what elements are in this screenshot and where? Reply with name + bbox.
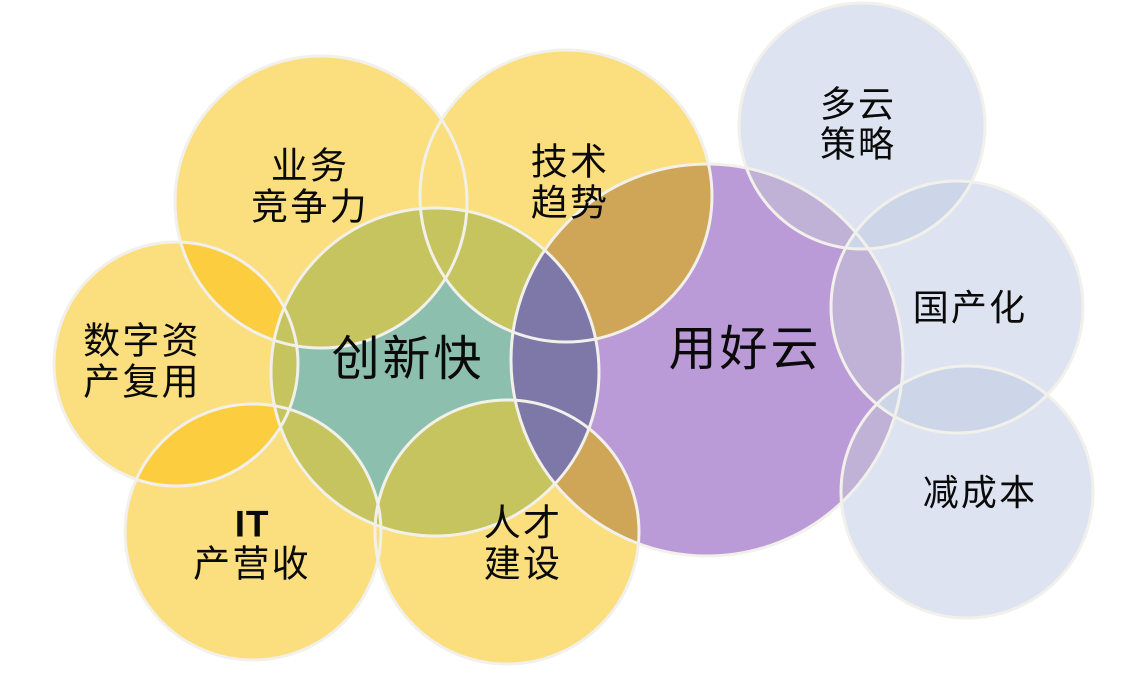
venn-diagram-canvas: 创新快用好云业务 竞争力技术 趋势数字资 产复用IT产营收人才 建设多云 策略国… [0,0,1129,687]
venn-circles-svg [0,0,1129,687]
